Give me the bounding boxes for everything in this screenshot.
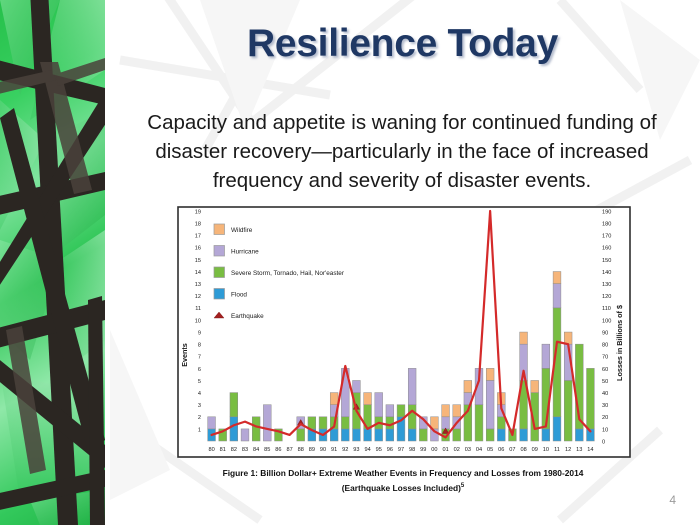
bar-segment <box>408 429 416 441</box>
bar-segment <box>497 417 505 429</box>
y-left-tick-label: 3 <box>198 403 201 409</box>
legend-label: Earthquake <box>231 313 264 320</box>
caption-line-2: (Earthquake Losses Included) <box>342 483 461 493</box>
bar-segment <box>442 417 450 429</box>
y-left-tick-label: 10 <box>195 318 201 324</box>
x-tick-label: 80 <box>208 447 214 453</box>
x-tick-label: 11 <box>554 447 560 453</box>
y-left-tick-label: 11 <box>195 306 201 312</box>
slide-body-text: Capacity and appetite is waning for cont… <box>124 108 680 195</box>
bar-segment <box>564 380 572 441</box>
y-right-tick-label: 170 <box>602 234 611 240</box>
bar-segment <box>341 417 349 429</box>
x-tick-label: 97 <box>398 447 404 453</box>
x-tick-label: 85 <box>264 447 270 453</box>
bar-segment <box>497 429 505 441</box>
bar-segment <box>241 429 249 441</box>
bar-segment <box>575 429 583 441</box>
bar-segment <box>486 429 494 441</box>
x-axis-ticks: 8081828384858687888990919293949596979899… <box>208 447 593 453</box>
bar-segment <box>553 272 561 284</box>
bar-segment <box>408 405 416 429</box>
bar-segment <box>553 417 561 441</box>
bar-segment <box>542 429 550 441</box>
y-left-tick-label: 18 <box>195 222 201 228</box>
bar-segment <box>386 417 394 429</box>
y-axis-right-title: Losses in Billions of $ <box>615 305 624 381</box>
x-tick-label: 94 <box>364 447 370 453</box>
bar-segment <box>531 380 539 392</box>
x-tick-label: 09 <box>532 447 538 453</box>
x-tick-label: 93 <box>353 447 359 453</box>
bar-segment <box>486 368 494 380</box>
x-tick-label: 96 <box>387 447 393 453</box>
bar-segment <box>587 368 595 429</box>
x-tick-label: 95 <box>376 447 382 453</box>
y-left-tick-label: 6 <box>198 367 201 373</box>
x-tick-label: 88 <box>298 447 304 453</box>
y-axis-left-title: Events <box>180 343 189 367</box>
bar-segment <box>486 380 494 428</box>
y-right-tick-label: 0 <box>602 439 605 445</box>
legend-label: Flood <box>231 292 247 299</box>
x-tick-label: 86 <box>275 447 281 453</box>
x-tick-label: 00 <box>431 447 437 453</box>
bar-segment <box>453 429 461 441</box>
x-tick-label: 06 <box>498 447 504 453</box>
y-right-tick-label: 10 <box>602 427 608 433</box>
legend-swatch <box>214 289 225 300</box>
x-tick-label: 90 <box>320 447 326 453</box>
bar-segment <box>520 332 528 344</box>
x-tick-label: 05 <box>487 447 493 453</box>
bar-segment <box>475 405 483 441</box>
x-tick-label: 04 <box>476 447 482 453</box>
x-tick-label: 99 <box>420 447 426 453</box>
y-right-tick-label: 120 <box>602 294 611 300</box>
y-left-tick-label: 7 <box>198 355 201 361</box>
bar-segment <box>364 393 372 405</box>
y-left-tick-label: 19 <box>195 209 201 215</box>
y-right-tick-label: 160 <box>602 246 611 252</box>
y-right-tick-label: 60 <box>602 367 608 373</box>
y-left-tick-label: 8 <box>198 343 201 349</box>
bar-segment <box>386 429 394 441</box>
y-left-tick-label: 14 <box>195 270 201 276</box>
bar-segment <box>419 429 427 441</box>
page-number: 4 <box>669 493 676 507</box>
legend-swatch <box>214 267 225 278</box>
bar-segment <box>520 429 528 441</box>
y-right-tick-label: 130 <box>602 282 611 288</box>
x-tick-label: 03 <box>465 447 471 453</box>
x-tick-label: 98 <box>409 447 415 453</box>
y-right-tick-label: 190 <box>602 209 611 215</box>
x-tick-label: 01 <box>442 447 448 453</box>
y-right-tick-label: 100 <box>602 318 611 324</box>
bar-segment <box>408 368 416 404</box>
figure-1: 12345678910111213141516171819 0102030405… <box>172 203 634 508</box>
bar-segment <box>297 429 305 441</box>
bar-segment <box>453 405 461 417</box>
figure-caption: Figure 1: Billion Dollar+ Extreme Weathe… <box>172 467 634 495</box>
y-right-tick-label: 90 <box>602 330 608 336</box>
y-left-tick-label: 17 <box>195 234 201 240</box>
y-right-tick-label: 180 <box>602 222 611 228</box>
y-right-tick-label: 150 <box>602 258 611 264</box>
x-tick-label: 84 <box>253 447 259 453</box>
bar-segment <box>553 284 561 308</box>
x-tick-label: 02 <box>454 447 460 453</box>
legend-label: Hurricane <box>231 249 259 256</box>
y-right-tick-label: 30 <box>602 403 608 409</box>
legend-label: Severe Storm, Tornado, Hail, Nor'easter <box>231 270 345 277</box>
bar-segment <box>464 380 472 392</box>
decorative-side-band <box>0 0 105 525</box>
y-right-tick-label: 80 <box>602 343 608 349</box>
bar-segment <box>397 405 405 417</box>
x-tick-label: 91 <box>331 447 337 453</box>
bar-segment <box>308 417 316 429</box>
x-tick-label: 14 <box>587 447 593 453</box>
slide-canvas: Resilience Today Capacity and appetite i… <box>0 0 700 525</box>
bar-segment <box>230 417 238 441</box>
x-tick-label: 07 <box>509 447 515 453</box>
bar-segment <box>230 393 238 417</box>
bar-segment <box>364 429 372 441</box>
side-band-pattern <box>0 0 105 525</box>
y-left-tick-label: 16 <box>195 246 201 252</box>
y-right-tick-label: 50 <box>602 379 608 385</box>
x-tick-label: 87 <box>286 447 292 453</box>
y-left-tick-label: 1 <box>198 427 201 433</box>
caption-superscript: 5 <box>461 483 464 489</box>
bar-segment <box>319 417 327 429</box>
x-tick-label: 10 <box>543 447 549 453</box>
legend-swatch <box>214 246 225 257</box>
x-tick-label: 81 <box>220 447 226 453</box>
x-tick-label: 89 <box>309 447 315 453</box>
bar-segment <box>564 332 572 344</box>
y-left-tick-label: 9 <box>198 330 201 336</box>
y-right-tick-label: 20 <box>602 415 608 421</box>
y-left-tick-label: 2 <box>198 415 201 421</box>
x-tick-label: 83 <box>242 447 248 453</box>
slide-title: Resilience Today <box>115 22 690 66</box>
disaster-events-chart: 12345678910111213141516171819 0102030405… <box>172 203 634 461</box>
y-right-tick-label: 70 <box>602 355 608 361</box>
x-tick-label: 82 <box>231 447 237 453</box>
y-right-tick-label: 40 <box>602 391 608 397</box>
y-right-tick-label: 110 <box>602 306 611 312</box>
bar-segment <box>375 393 383 417</box>
y-left-tick-label: 12 <box>195 294 201 300</box>
bar-segment <box>341 429 349 441</box>
legend-label: Wildfire <box>231 227 253 234</box>
bar-segment <box>263 405 271 441</box>
legend-swatch <box>214 224 225 235</box>
x-tick-label: 12 <box>565 447 571 453</box>
y-left-tick-label: 4 <box>198 391 201 397</box>
bar-segment <box>386 405 394 417</box>
bar-segment <box>442 405 450 417</box>
x-tick-label: 08 <box>520 447 526 453</box>
y-left-tick-label: 13 <box>195 282 201 288</box>
y-right-tick-label: 140 <box>602 270 611 276</box>
x-tick-label: 92 <box>342 447 348 453</box>
bar-segment <box>375 429 383 441</box>
bar-segment <box>542 344 550 368</box>
bar-segment <box>353 380 361 392</box>
y-left-tick-label: 15 <box>195 258 201 264</box>
bar-segment <box>330 393 338 405</box>
bar-segment <box>208 417 216 429</box>
bar-segment <box>353 429 361 441</box>
y-left-tick-label: 5 <box>198 379 201 385</box>
caption-line-1: Figure 1: Billion Dollar+ Extreme Weathe… <box>223 468 584 478</box>
bar-segment <box>252 417 260 441</box>
bar-segment <box>330 429 338 441</box>
x-tick-label: 13 <box>576 447 582 453</box>
